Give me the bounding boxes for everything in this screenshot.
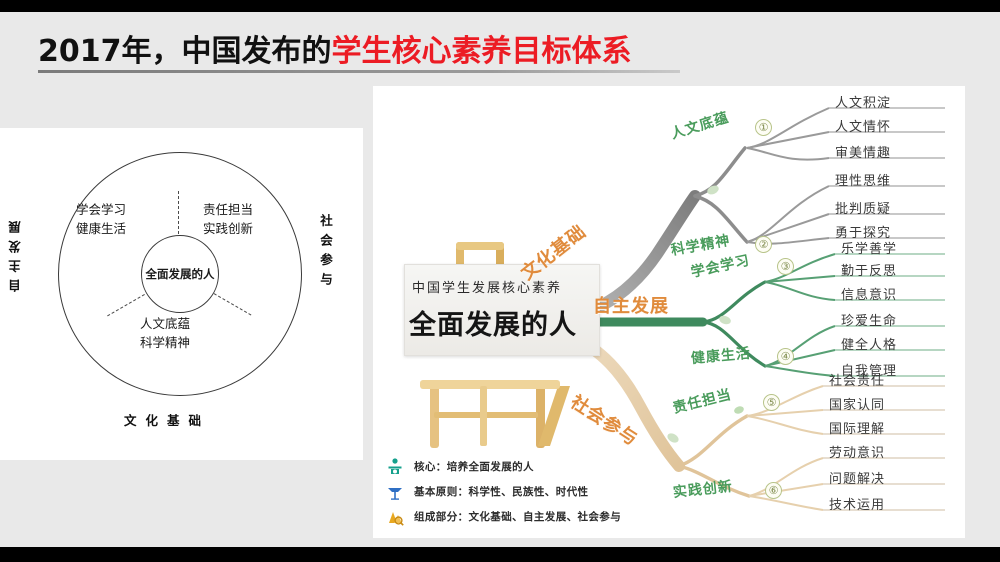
legend-row-principles: 基本原则：科学性、民族性、时代性 (385, 479, 715, 504)
easel-illustration: 中国学生发展核心素养 全面发展的人 (408, 234, 608, 454)
leaf-label: 勤于反思 (841, 260, 897, 279)
core-circle-label: 全面发展的人 (146, 267, 215, 281)
leaf-label: 审美情趣 (835, 142, 891, 161)
slide-canvas: 2017年，中国发布的学生核心素养目标体系 全面发展的人 学会学习 健康生活 责… (0, 0, 1000, 562)
mindmap-panel: 中国学生发展核心素养 全面发展的人 文化基础 自主发展 社会参与 人文底蕴 ① … (373, 86, 965, 538)
top-letterbox-bar (0, 0, 1000, 12)
board-headline: 全面发展的人 (409, 303, 577, 342)
sector-line: 科学精神 (140, 333, 190, 352)
leaf-label: 信息意识 (841, 284, 897, 303)
leaf-label: 技术运用 (829, 494, 885, 513)
leaf-label: 劳动意识 (829, 442, 885, 461)
sector-label-bottom: 人文底蕴 科学精神 (140, 314, 190, 353)
leaf-label: 健全人格 (841, 334, 897, 353)
core-circle: 全面发展的人 (141, 235, 219, 313)
sector-line: 人文底蕴 (140, 314, 190, 333)
title-red-part: 学生核心素养目标体系 (332, 34, 632, 69)
principle-pin-icon (385, 482, 405, 502)
page-title: 2017年，中国发布的学生核心素养目标体系 (38, 26, 632, 70)
core-person-icon (385, 457, 405, 477)
legend-text-core: 核心：培养全面发展的人 (414, 459, 534, 474)
sector-line: 责任担当 (203, 200, 253, 219)
legend-row-components: 组成部分：文化基础、自主发展、社会参与 (385, 504, 715, 529)
core-literacy-board: 中国学生发展核心素养 全面发展的人 (404, 264, 600, 356)
ring-label-right: 社会参与 (316, 214, 335, 292)
sector-label-upper-left: 学会学习 健康生活 (76, 200, 126, 239)
trunk-label-independent-development: 自主发展 (593, 292, 669, 318)
title-underline (38, 70, 680, 73)
mindmap-graphic: 中国学生发展核心素养 全面发展的人 文化基础 自主发展 社会参与 人文底蕴 ① … (373, 86, 965, 538)
branch-number-4: ④ (777, 348, 794, 365)
leaf-label: 国家认同 (829, 394, 885, 413)
circle-diagram: 全面发展的人 学会学习 健康生活 责任担当 实践创新 人文底蕴 科学精神 自主发… (28, 142, 328, 442)
leaf-label: 乐学善学 (841, 238, 897, 257)
legend-row-core: 核心：培养全面发展的人 (385, 454, 715, 479)
board-subtitle: 中国学生发展核心素养 (412, 277, 562, 296)
legend-text-components: 组成部分：文化基础、自主发展、社会参与 (414, 509, 621, 524)
sector-line: 实践创新 (203, 219, 253, 238)
sector-label-upper-right: 责任担当 实践创新 (203, 200, 253, 239)
leaf-label: 珍爱生命 (841, 310, 897, 329)
leaf-label: 国际理解 (829, 418, 885, 437)
ring-label-left: 自主发展 (6, 214, 25, 292)
branch-number-2: ② (755, 236, 772, 253)
branch-number-6: ⑥ (765, 482, 782, 499)
branch-number-1: ① (755, 119, 772, 136)
leaf-label: 社会责任 (829, 370, 885, 389)
components-icon (385, 507, 405, 527)
leaf-label: 问题解决 (829, 468, 885, 487)
bottom-letterbox-bar (0, 547, 1000, 562)
leaf-label: 人文情怀 (835, 116, 891, 135)
title-black-part: 2017年，中国发布的 (38, 34, 332, 69)
sector-line: 健康生活 (76, 219, 126, 238)
leaf-label: 批判质疑 (835, 198, 891, 217)
mindmap-legend: 核心：培养全面发展的人 基本原则：科学性、民族性、时代性 (385, 454, 715, 529)
leaf-label: 理性思维 (835, 170, 891, 189)
ring-label-bottom: 文化基础 (124, 410, 210, 429)
branch-number-3: ③ (777, 258, 794, 275)
leaf-label: 人文积淀 (835, 92, 891, 111)
branch-number-5: ⑤ (763, 394, 780, 411)
legend-text-principles: 基本原则：科学性、民族性、时代性 (414, 484, 588, 499)
sector-line: 学会学习 (76, 200, 126, 219)
circle-diagram-panel: 全面发展的人 学会学习 健康生活 责任担当 实践创新 人文底蕴 科学精神 自主发… (0, 128, 363, 460)
